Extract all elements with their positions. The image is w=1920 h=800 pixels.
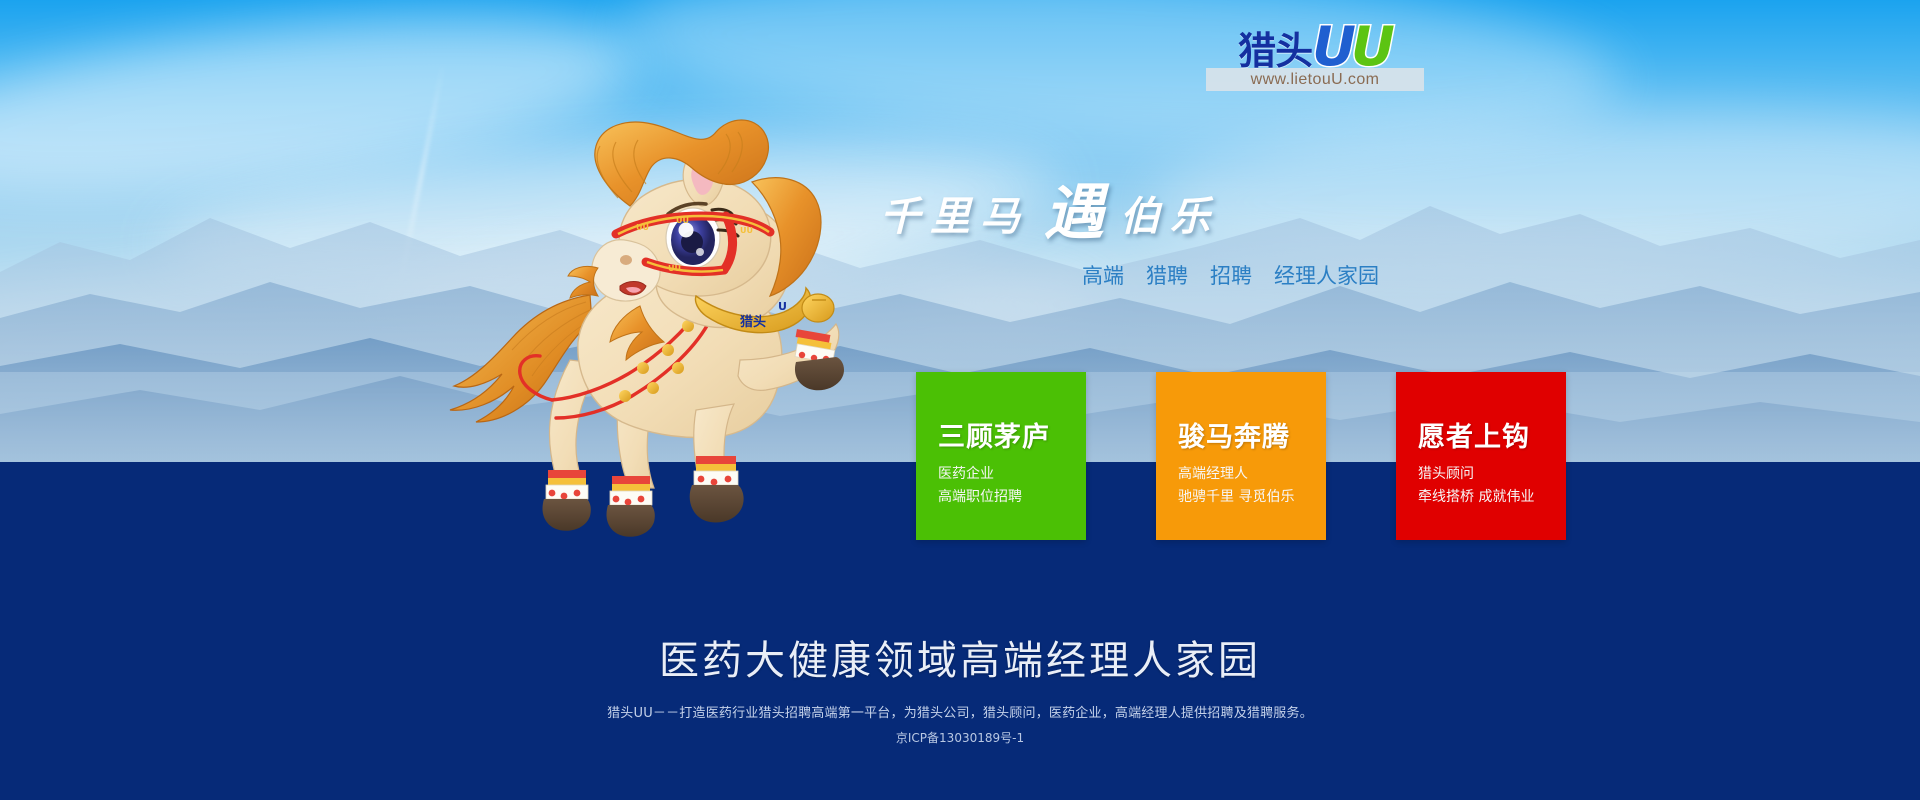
slogan-part-3: 伯乐 [1120,184,1220,242]
horse-chin-tuft [568,266,598,298]
card-line-1: 高端经理人 [1178,463,1248,483]
icp-license: 京ICP备13030189号-1 [0,729,1920,746]
hoof-front-standing [690,456,744,522]
svg-text:UU: UU [676,216,689,225]
logo-wordmark: 猎头 U U [1206,18,1424,70]
collar-text-uu: U [778,300,787,313]
landing-page: 猎头 U U www.lietouU.com 千里马 遇 伯乐 高端 猎聘 招聘… [0,0,1920,800]
cartoon-horse-mascot: UU UU UU UU 猎头 U [440,110,860,540]
slogan-part-1: 千里马 [880,184,1030,242]
logo-letter-u-green: U [1351,24,1392,70]
card-line-1: 猎头顾问 [1418,463,1474,483]
slogan-part-2: 遇 [1044,186,1106,240]
card-line-2: 高端职位招聘 [938,486,1022,506]
promo-card-green[interactable]: 三顾茅庐 医药企业 高端职位招聘 [916,372,1086,540]
promo-cards: 三顾茅庐 医药企业 高端职位招聘 骏马奔腾 高端经理人 驰骋千里 寻觅伯乐 愿者… [916,372,1566,540]
svg-text:UU: UU [636,223,649,232]
card-title: 愿者上钩 [1418,415,1530,454]
page-headline: 医药大健康领域高端经理人家园 [0,628,1920,686]
card-line-1: 医药企业 [938,463,994,483]
logo-letter-u-blue: U [1312,24,1353,70]
logo-chinese-text: 猎头 [1238,32,1312,70]
primary-nav[interactable]: 高端 猎聘 招聘 经理人家园 [1082,260,1379,290]
nav-item-zhaopin[interactable]: 招聘 [1210,260,1252,290]
promo-card-orange[interactable]: 骏马奔腾 高端经理人 驰骋千里 寻觅伯乐 [1156,372,1326,540]
svg-text:UU: UU [668,264,681,273]
hoof-back-left [543,470,591,531]
card-line-2: 驰骋千里 寻觅伯乐 [1178,486,1294,506]
site-logo[interactable]: 猎头 U U www.lietouU.com [1206,18,1424,94]
card-line-2: 牵线搭桥 成就伟业 [1418,486,1534,506]
card-title: 骏马奔腾 [1178,415,1290,454]
hero-slogan: 千里马 遇 伯乐 [880,178,1310,248]
hoof-back-right [607,476,655,537]
card-title: 三顾茅庐 [938,415,1050,454]
promo-card-red[interactable]: 愿者上钩 猎头顾问 牵线搭桥 成就伟业 [1396,372,1566,540]
horse-nostril [620,255,632,265]
nav-item-liepin[interactable]: 猎聘 [1146,260,1188,290]
collar-bell [802,294,834,322]
svg-text:UU: UU [740,226,753,235]
collar-text-cn: 猎头 [740,314,766,330]
nav-item-gaoduan[interactable]: 高端 [1082,260,1124,290]
footer-description: 猎头UU－－打造医药行业猎头招聘高端第一平台，为猎头公司，猎头顾问，医药企业，高… [0,702,1920,721]
logo-website-url: www.lietouU.com [1251,71,1380,89]
nav-item-jinglirenjiayuan[interactable]: 经理人家园 [1274,260,1379,290]
